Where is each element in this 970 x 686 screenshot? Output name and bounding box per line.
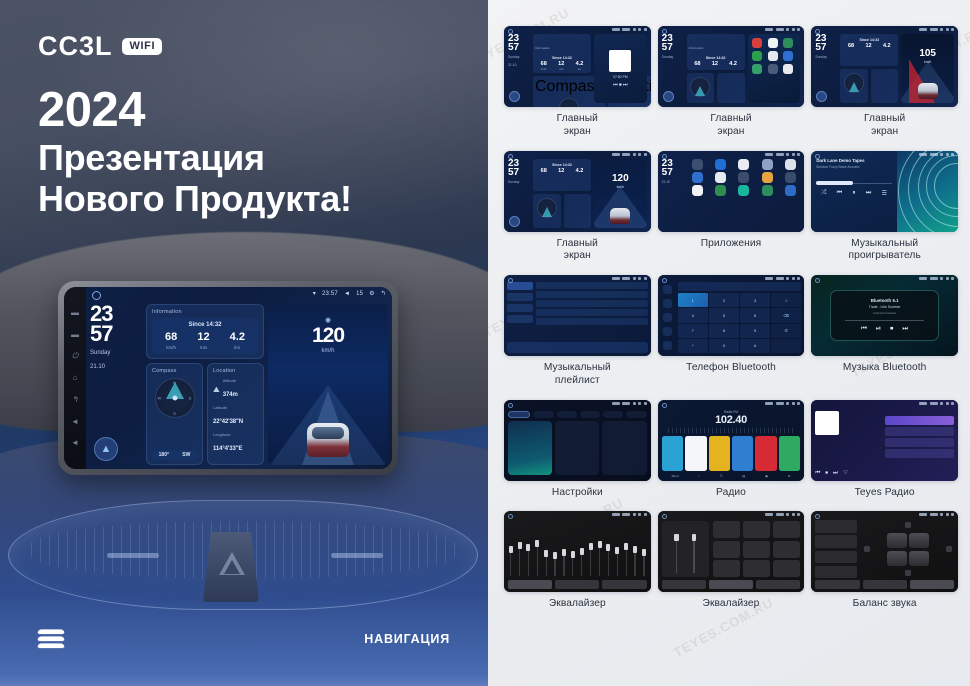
thumbnail-playlist[interactable]: [504, 275, 651, 356]
list-item[interactable]: [536, 282, 648, 289]
app-icon-play[interactable]: [752, 64, 762, 74]
grid-cell[interactable]: 23 57 21.10: [658, 151, 805, 272]
app-icon-green2[interactable]: [752, 51, 762, 61]
eq-band[interactable]: [510, 546, 511, 577]
home-icon: [508, 29, 513, 34]
eq-band[interactable]: [528, 544, 529, 576]
key-8[interactable]: 8: [709, 324, 739, 338]
thumbnail-radio[interactable]: Radio FM 102.40 B: [658, 400, 805, 481]
next-icon[interactable]: ⏭: [902, 325, 908, 333]
widgets-mini: Since 14:32 68 12 4.2: [840, 34, 898, 103]
grid-cell[interactable]: Эквалайзер: [504, 511, 651, 619]
preset-grid[interactable]: [713, 521, 801, 577]
home-button[interactable]: ⌂: [73, 374, 78, 382]
preset-2[interactable]: [685, 436, 706, 471]
hero-year: 2024: [38, 85, 352, 137]
eq-icon[interactable]: ▤: [742, 474, 745, 478]
tab-reset[interactable]: [602, 580, 646, 589]
nav-tracks[interactable]: [507, 282, 533, 290]
wave-lines: [897, 151, 958, 232]
key-9[interactable]: 9: [740, 324, 770, 338]
rds-icon[interactable]: ▣: [765, 474, 768, 478]
app-icon-gallery[interactable]: [780, 172, 800, 183]
tab-dsp[interactable]: [709, 580, 753, 589]
prev-icon[interactable]: ⏮: [815, 470, 820, 477]
longitude-row: Longitude 114°4'33"E: [213, 432, 258, 455]
balance-area[interactable]: [815, 518, 954, 580]
key-1[interactable]: 1: [678, 293, 708, 307]
thumbnail-home-apps[interactable]: 23 57 Sunday Information Since 14:32 68: [658, 26, 805, 107]
thumbnail-caption: Эквалайзер: [549, 598, 606, 611]
grid-cell[interactable]: Эквалайзер: [658, 511, 805, 619]
status-bar-mini: [612, 513, 647, 516]
thumbnail-equalizer-presets[interactable]: [658, 511, 805, 592]
head-unit-side-buttons[interactable]: ▬ ▬ ⏻ ⌂ ↰ ◄ ◄: [64, 287, 86, 469]
layer-mid: [37, 636, 65, 641]
stat-time-value: 12: [197, 332, 209, 343]
thumbnail-equalizer-bands[interactable]: [504, 511, 651, 592]
tuning-scale[interactable]: [668, 428, 795, 433]
stat-1: 68: [541, 62, 547, 68]
since-label: Since 14:32: [155, 322, 255, 328]
search-icon[interactable]: [663, 313, 672, 322]
clock-day: Sunday: [508, 180, 530, 185]
stat-2: 12: [558, 169, 564, 175]
widgets-mini: Information Since 14:32 68 12 4.2: [687, 34, 745, 103]
player-controls[interactable]: ⤮ ⏮ ⏸ ⏭ ☰: [816, 190, 892, 197]
shuffle-icon[interactable]: ⤮: [822, 190, 827, 197]
app-icon-bluetooth[interactable]: [711, 159, 731, 170]
status-bar-mini: [612, 402, 647, 405]
home-icon: [662, 514, 667, 519]
number-input[interactable]: [678, 282, 802, 291]
app-icon-filemanager[interactable]: [757, 172, 777, 183]
preset-front[interactable]: [815, 520, 857, 533]
thumbnail-caption: Настройки: [552, 487, 603, 500]
list-item[interactable]: [536, 309, 648, 316]
home-icon: [662, 278, 667, 283]
information-body: Since 14:32 68 km/h 12 min: [152, 318, 258, 354]
tab-wifi[interactable]: [508, 411, 530, 418]
thumbnail-caption: Музыкальный плейлист: [544, 362, 611, 388]
tab-display[interactable]: [557, 411, 577, 418]
app-icon-grey[interactable]: [768, 51, 778, 61]
eq-band[interactable]: [643, 549, 644, 577]
nav-fab-mini[interactable]: [509, 216, 520, 227]
menu-button[interactable]: ◄: [71, 439, 79, 447]
hazard-triangle-inner-icon: [224, 560, 240, 574]
preset-rear[interactable]: [815, 535, 857, 548]
list-item[interactable]: [885, 427, 954, 436]
list-icon[interactable]: ☰: [720, 474, 723, 478]
prev-icon[interactable]: ⏮: [861, 325, 867, 333]
settings-icon[interactable]: [663, 341, 672, 350]
preset-rock[interactable]: [743, 521, 771, 538]
eq-band[interactable]: [554, 552, 555, 576]
stat-3: 4.2: [729, 62, 737, 68]
app-icon-dark[interactable]: [768, 64, 778, 74]
navigation-fab[interactable]: ▲: [94, 437, 118, 461]
eq-band[interactable]: [608, 544, 609, 576]
clock-date: 21.10: [90, 363, 142, 372]
seat-balance-pad[interactable]: [862, 520, 954, 578]
bt-track-title: Trade - Like Summer: [869, 305, 901, 309]
stat-distance: 4.2 km: [230, 332, 245, 350]
app-icon-google[interactable]: [688, 185, 708, 196]
slider-treble[interactable]: [693, 534, 694, 573]
logo-text: CC3L: [38, 33, 113, 60]
preset-5[interactable]: [755, 436, 776, 471]
list-item[interactable]: [885, 449, 954, 458]
tab-security[interactable]: [603, 411, 623, 418]
eq-band[interactable]: [617, 547, 618, 577]
equalizer-bands[interactable]: [508, 518, 647, 580]
list-item[interactable]: [885, 438, 954, 447]
nav-fab-mini[interactable]: [663, 91, 674, 102]
preset-pop[interactable]: [713, 521, 741, 538]
tab-balance[interactable]: [910, 580, 954, 589]
volume-up-button[interactable]: ▬: [71, 309, 79, 317]
station-presets[interactable]: [662, 436, 801, 471]
thumbnail-bluetooth-phone[interactable]: 123☆ 456⌫ 789✆ *0#: [658, 275, 805, 356]
altitude-row: ⛰ Altitude 374m: [213, 378, 258, 401]
status-bar-mini: [765, 513, 800, 516]
station-list[interactable]: [885, 407, 954, 477]
thumbnail-home-speed-red[interactable]: 23 57 Sunday Since 14:32 68 12: [811, 26, 958, 107]
nav-folders[interactable]: [507, 315, 533, 323]
grid-cell[interactable]: ⏮ ⏹ ⏭ ♡ Te: [811, 400, 958, 508]
app-icon-playstore[interactable]: [757, 185, 777, 196]
speed-widget[interactable]: ◉ 120 km/h: [268, 304, 388, 465]
car-3d-mini: [918, 83, 938, 99]
key-backspace[interactable]: ⌫: [771, 308, 801, 322]
status-bar-mini: [919, 277, 954, 280]
tab-eq[interactable]: [508, 580, 552, 589]
thumbnail-home-speed[interactable]: 23 57 Sunday Since 14:32 68 12: [504, 151, 651, 232]
lower-widgets: Compass N S W E: [146, 363, 264, 465]
preset-1[interactable]: [662, 436, 683, 471]
clock-mini: 23 57 Sunday: [662, 34, 684, 103]
preset-3[interactable]: [709, 436, 730, 471]
tab-eq[interactable]: [815, 580, 859, 589]
widgets-mini: Since 14:32 68 12 4.2: [533, 159, 591, 228]
home-icon: [662, 154, 667, 159]
key-0[interactable]: 0: [709, 339, 739, 353]
back-button[interactable]: ↰: [72, 396, 79, 404]
equalizer-tabs[interactable]: [508, 580, 647, 589]
eq-band[interactable]: [546, 550, 547, 576]
stat-3-unit: km: [576, 68, 584, 71]
thumbnail-apps[interactable]: 23 57 21.10: [658, 151, 805, 232]
player-controls[interactable]: ⏮ ⏹ ⏭ ♡: [815, 470, 881, 477]
arrow-left[interactable]: [864, 546, 870, 552]
tab-dsp[interactable]: [555, 580, 599, 589]
bt-controls[interactable]: ⏮ ⏯ ⏹ ⏭: [861, 325, 908, 333]
app-icon-radio[interactable]: [780, 185, 800, 196]
tab-reset[interactable]: [756, 580, 800, 589]
grid-cell[interactable]: Музыкальный плейлист: [504, 275, 651, 396]
since-mini: Since 14:32: [535, 163, 589, 167]
thumbnail-caption: Главный экран: [864, 113, 905, 139]
compass-card-mini: [687, 73, 715, 104]
track-artist: Bombon Fuzzy Brave Acoustic: [816, 165, 892, 169]
key-star[interactable]: *: [678, 339, 708, 353]
seat-fr: [909, 533, 929, 548]
since-mini: Since 14:32: [535, 56, 589, 60]
next-icon[interactable]: ⏭: [866, 190, 871, 197]
teyes-radio-player[interactable]: ⏮ ⏹ ⏭ ♡: [815, 407, 881, 477]
next-icon[interactable]: ⏭: [833, 470, 838, 477]
key-4[interactable]: 4: [678, 308, 708, 322]
key-3[interactable]: 3: [740, 293, 770, 307]
preset-soft[interactable]: [773, 560, 801, 577]
slider-bass[interactable]: [676, 534, 677, 573]
setting-icon[interactable]: ⚙: [788, 474, 791, 478]
app-icon-musicplayer[interactable]: [734, 185, 754, 196]
screen-home-icon[interactable]: [92, 291, 101, 300]
media-controls-mini[interactable]: ⏮ ⏹ ⏭: [613, 82, 627, 88]
eq-band[interactable]: [581, 548, 582, 577]
thumbnail-home-media[interactable]: 23 57 Sunday 21.10 Information Since 14:…: [504, 26, 651, 107]
preset-vocal[interactable]: [773, 541, 801, 558]
thumbnail-music-player[interactable]: Dark Lane Demo Tapes Bombon Fuzzy Brave …: [811, 151, 958, 232]
location-card[interactable]: Location ⛰ Altitude 374m: [207, 363, 264, 465]
settings-tabs[interactable]: [508, 411, 647, 418]
clock-date: 21.10: [662, 180, 684, 185]
speed-limit-icon: ◉: [325, 316, 331, 324]
arrow-right[interactable]: [946, 546, 952, 552]
dialpad-icon[interactable]: [663, 285, 672, 294]
music-visualizer: [897, 151, 958, 232]
stat-3: 4.2: [576, 169, 584, 175]
preset-6[interactable]: [779, 436, 800, 471]
volume-level: 15: [356, 291, 363, 297]
compass-center-dot: [172, 396, 177, 401]
key-7[interactable]: 7: [678, 324, 708, 338]
list-item[interactable]: [536, 300, 648, 307]
stop-icon[interactable]: ⏹: [890, 325, 893, 333]
key-5[interactable]: 5: [709, 308, 739, 322]
grid-cell[interactable]: 23 57 Sunday Since 14:32 68 12: [504, 151, 651, 272]
clock-mini: 23 57 Sunday: [815, 34, 837, 103]
app-drawer-grid[interactable]: [688, 159, 801, 229]
app-icon-calculator[interactable]: [757, 159, 777, 170]
speed-unit: km/h: [321, 348, 334, 354]
nav-albums[interactable]: [507, 304, 533, 312]
list-item[interactable]: [536, 318, 648, 325]
nav-artists[interactable]: [507, 293, 533, 301]
preset-4[interactable]: [732, 436, 753, 471]
speed-widget-mini[interactable]: 105km/h: [901, 34, 954, 103]
preset-flat[interactable]: [713, 560, 741, 577]
key-star-fav[interactable]: ☆: [771, 293, 801, 307]
since-mini: Since 14:32: [689, 56, 743, 60]
app-icon-contacts[interactable]: [711, 172, 731, 183]
head-unit-screen[interactable]: ▾ 23:57 ◄ 15 ⚙ ↰ 23 57 Sunday 21.10: [86, 287, 392, 469]
volume-down-button[interactable]: ▬: [71, 331, 79, 339]
speed-mini: 120km/h: [612, 173, 629, 189]
power-button[interactable]: ⏻: [72, 352, 78, 360]
phone-sidebar[interactable]: [661, 282, 675, 353]
grid-cell[interactable]: 23 57 Sunday 21.10 Information Since 14:…: [504, 26, 651, 147]
eq-band[interactable]: [626, 543, 627, 576]
balance-tabs[interactable]: [815, 580, 954, 589]
grid-cell[interactable]: Баланс звука: [811, 511, 958, 619]
radio-toolbar[interactable]: Band ⌕ ☰ ▤ ▣ ⚙: [662, 474, 801, 478]
thumbnail-bluetooth-music[interactable]: Bluetooth 5.1 Trade - Like Summer Unknow…: [811, 275, 958, 356]
longitude-label: Longitude: [213, 432, 258, 437]
track-title: Dark Lane Demo Tapes: [816, 158, 892, 163]
preset-right[interactable]: [815, 566, 857, 579]
app-icon-dvr[interactable]: [734, 172, 754, 183]
card-more[interactable]: [602, 421, 646, 475]
back-icon[interactable]: ↰: [381, 290, 386, 297]
app-icon-chrome[interactable]: [688, 172, 708, 183]
progress-bar[interactable]: [816, 183, 892, 185]
stop-icon[interactable]: ⏹: [825, 470, 828, 477]
app-icon-bluetooth-music[interactable]: [734, 159, 754, 170]
media-widget-mini[interactable]: 07:50 PM ⏮ ⏹ ⏭: [594, 34, 647, 103]
preset-left[interactable]: [815, 551, 857, 564]
card-data-usage[interactable]: [555, 421, 599, 475]
keypad[interactable]: 123☆ 456⌫ 789✆ *0#: [678, 293, 802, 353]
eq-band[interactable]: [634, 546, 635, 577]
information-card[interactable]: Information Since 14:32 68 km/h: [146, 304, 264, 359]
thumbnail-teyes-radio[interactable]: ⏮ ⏹ ⏭ ♡: [811, 400, 958, 481]
mic-button[interactable]: ◄: [71, 418, 79, 426]
compass-point-n: N: [173, 380, 176, 385]
equalizer-preset-area[interactable]: [662, 518, 801, 580]
gear-icon[interactable]: ⚙: [369, 290, 375, 297]
compass-title: Compass: [152, 368, 197, 374]
settings-cards[interactable]: [508, 421, 647, 475]
prev-icon[interactable]: ⏮: [837, 190, 842, 197]
key-6[interactable]: 6: [740, 308, 770, 322]
list-item[interactable]: [885, 416, 954, 425]
clock-minutes: 57: [90, 324, 142, 344]
tab-system[interactable]: [626, 411, 646, 418]
clock-mm: 57: [508, 167, 519, 178]
grid-cell[interactable]: Настройки: [504, 400, 651, 508]
arrow-up[interactable]: [905, 522, 911, 528]
thumbnail-caption: Музыка Bluetooth: [843, 362, 927, 375]
contacts-icon[interactable]: [663, 299, 672, 308]
app-icon-red[interactable]: [752, 38, 762, 48]
now-playing-bar[interactable]: [507, 342, 648, 353]
tab-sound[interactable]: [533, 411, 553, 418]
app-icon-green[interactable]: [783, 38, 793, 48]
pause-icon[interactable]: ⏸: [852, 190, 855, 197]
compass-point-e: E: [189, 396, 192, 401]
album-art-mini: [609, 50, 631, 72]
grid-cell[interactable]: 123☆ 456⌫ 789✆ *0# Телефон Bluetooth: [658, 275, 805, 396]
speed-widget-mini[interactable]: 120km/h: [594, 159, 647, 228]
thumbnail-caption: Музыкальный проигрыватель: [848, 238, 920, 264]
list-icon[interactable]: ☰: [882, 190, 887, 197]
band-button[interactable]: Band: [672, 474, 679, 478]
thumbnail-caption: Главный экран: [557, 238, 598, 264]
compass-card[interactable]: Compass N S W E: [146, 363, 203, 465]
arrow-down[interactable]: [905, 570, 911, 576]
clock-mm: 57: [815, 42, 826, 53]
nav-fab-mini[interactable]: [816, 91, 827, 102]
dialpad-area[interactable]: 123☆ 456⌫ 789✆ *0#: [678, 282, 802, 353]
stat-speed-value: 68: [165, 332, 177, 343]
thumbnail-sound-balance[interactable]: [811, 511, 958, 592]
preset-custom[interactable]: [743, 541, 771, 558]
nav-fab-mini[interactable]: [509, 91, 520, 102]
screenshot-grid-panel: TEYES.COM.RU TEYES.COM.RU TEYES.COM.RU T…: [488, 0, 970, 686]
bt-progress-bar[interactable]: [845, 320, 924, 321]
balance-presets[interactable]: [815, 520, 857, 578]
thumbnail-settings[interactable]: [504, 400, 651, 481]
mountain-icon: ⛰: [213, 385, 220, 395]
grid-cell[interactable]: Dark Lane Demo Tapes Bombon Fuzzy Brave …: [811, 151, 958, 272]
eq-band[interactable]: [563, 549, 564, 577]
compass-card-mini: [840, 69, 868, 103]
album-art: [815, 411, 839, 435]
compass-point-w: W: [158, 396, 162, 401]
preset-bass[interactable]: [743, 560, 771, 577]
card-wifi[interactable]: [508, 421, 552, 475]
app-icon-aux[interactable]: [688, 159, 708, 170]
grid-cell[interactable]: 23 57 Sunday Information Since 14:32 68: [658, 26, 805, 147]
app-shortcuts-mini[interactable]: [748, 34, 801, 103]
tab-eq[interactable]: [662, 580, 706, 589]
clock-day: Sunday: [508, 55, 530, 60]
call-log-icon[interactable]: [663, 327, 672, 336]
eq-band[interactable]: [590, 543, 591, 576]
clock-mini: 23 57 Sunday: [508, 159, 530, 228]
scan-icon[interactable]: ⌕: [698, 474, 700, 478]
clock-mm: 57: [508, 42, 519, 53]
app-icon-grid[interactable]: [783, 64, 793, 74]
thumbnail-caption: Эквалайзер: [703, 598, 760, 611]
eq-band[interactable]: [572, 551, 573, 576]
eq-band[interactable]: [537, 540, 538, 576]
equalizer-tabs[interactable]: [662, 580, 801, 589]
status-bar-mini: [765, 277, 800, 280]
preset-jazz[interactable]: [773, 521, 801, 538]
key-2[interactable]: 2: [709, 293, 739, 307]
key-blank[interactable]: [771, 339, 801, 353]
heart-icon[interactable]: ♡: [843, 470, 848, 477]
grid-cell[interactable]: 23 57 Sunday Since 14:32 68 12: [811, 26, 958, 147]
key-call[interactable]: ✆: [771, 324, 801, 338]
eq-band[interactable]: [599, 541, 600, 576]
tab-apps[interactable]: [580, 411, 600, 418]
app-icon-white[interactable]: [768, 38, 778, 48]
preset-classic[interactable]: [713, 541, 741, 558]
clock-day: Sunday: [90, 349, 142, 358]
location-card-mini: [717, 73, 745, 104]
app-icon-maps[interactable]: [711, 185, 731, 196]
tab-dsp[interactable]: [863, 580, 907, 589]
playpause-icon[interactable]: ⏯: [876, 325, 881, 333]
thumbnail-caption: Радио: [716, 487, 746, 500]
grid-cell[interactable]: Bluetooth 5.1 Trade - Like Summer Unknow…: [811, 275, 958, 396]
key-hash[interactable]: #: [740, 339, 770, 353]
list-item[interactable]: [536, 291, 648, 298]
bass-treble-sliders[interactable]: [662, 521, 709, 577]
eq-band[interactable]: [519, 542, 520, 576]
clock-widget: 23 57 Sunday 21.10 ▲: [90, 304, 142, 465]
head-unit-device: ▬ ▬ ⏻ ⌂ ↰ ◄ ◄ ▾ 23:57 ◄ 15 ⚙: [58, 281, 398, 475]
grid-cell[interactable]: Radio FM 102.40 B: [658, 400, 805, 508]
app-icon-camera[interactable]: [780, 159, 800, 170]
app-icon-blue[interactable]: [783, 51, 793, 61]
stat-time: 12 min: [197, 332, 209, 350]
